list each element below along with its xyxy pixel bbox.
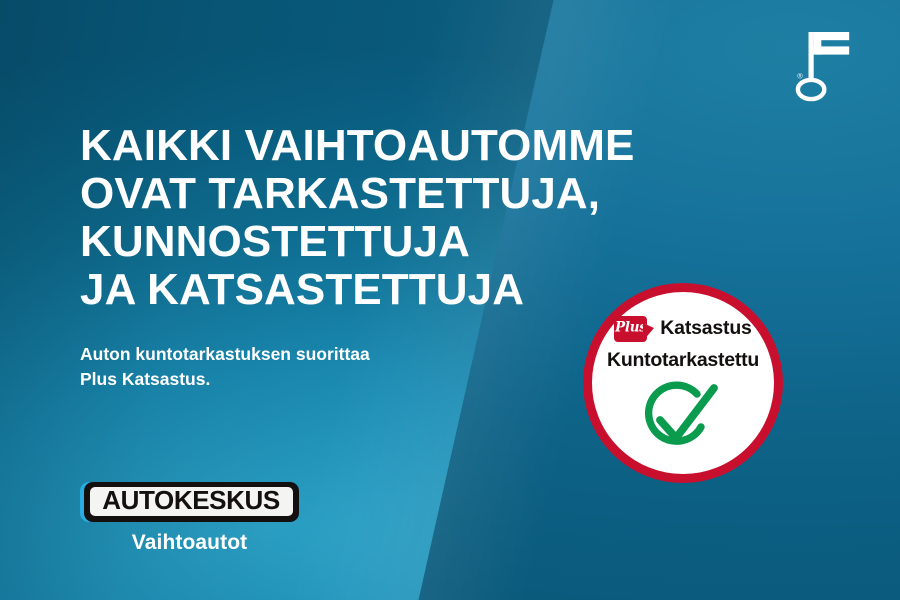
promo-banner: ® KAIKKI VAIHTOAUTOMME OVAT TARKASTETTUJ… [0,0,900,600]
seal-brand-label: Katsastus [660,319,751,339]
headline-line-3: KUNNOSTETTUJA [80,218,680,266]
seal-brand-row: Plus Katsastus [614,316,751,342]
autokeskus-logo: AUTOKESKUS [80,482,299,522]
plus-katsastus-seal: Plus Katsastus Kuntotarkastettu [583,283,783,483]
headline-line-1: KAIKKI VAIHTOAUTOMME [80,122,680,170]
headline-line-4: JA KATSASTETTUJA [80,266,680,314]
plus-logo-tail [643,323,654,341]
plus-logo-label: Plus [615,322,647,336]
subtitle-line-2: Plus Katsastus. [80,367,500,392]
status-badge: Kuntotarkastettu [607,351,759,371]
subtitle: Auton kuntotarkastuksen suorittaa Plus K… [80,342,500,392]
logo-plate: AUTOKESKUS [90,487,293,516]
avainlippu-key-flag-icon: ® [787,26,853,104]
logo-wordmark: AUTOKESKUS [103,489,281,515]
headline-line-2: OVAT TARKASTETTUJA, [80,170,680,218]
subtitle-line-1: Auton kuntotarkastuksen suorittaa [80,342,500,367]
brand-lockup: AUTOKESKUS Vaihtoautot [80,482,370,555]
plus-logo-icon: Plus [614,316,654,342]
green-check-circle-icon [635,381,731,455]
brand-tagline: Vaihtoautot [80,531,299,555]
svg-text:®: ® [797,72,803,81]
page-title: KAIKKI VAIHTOAUTOMME OVAT TARKASTETTUJA,… [80,122,680,314]
